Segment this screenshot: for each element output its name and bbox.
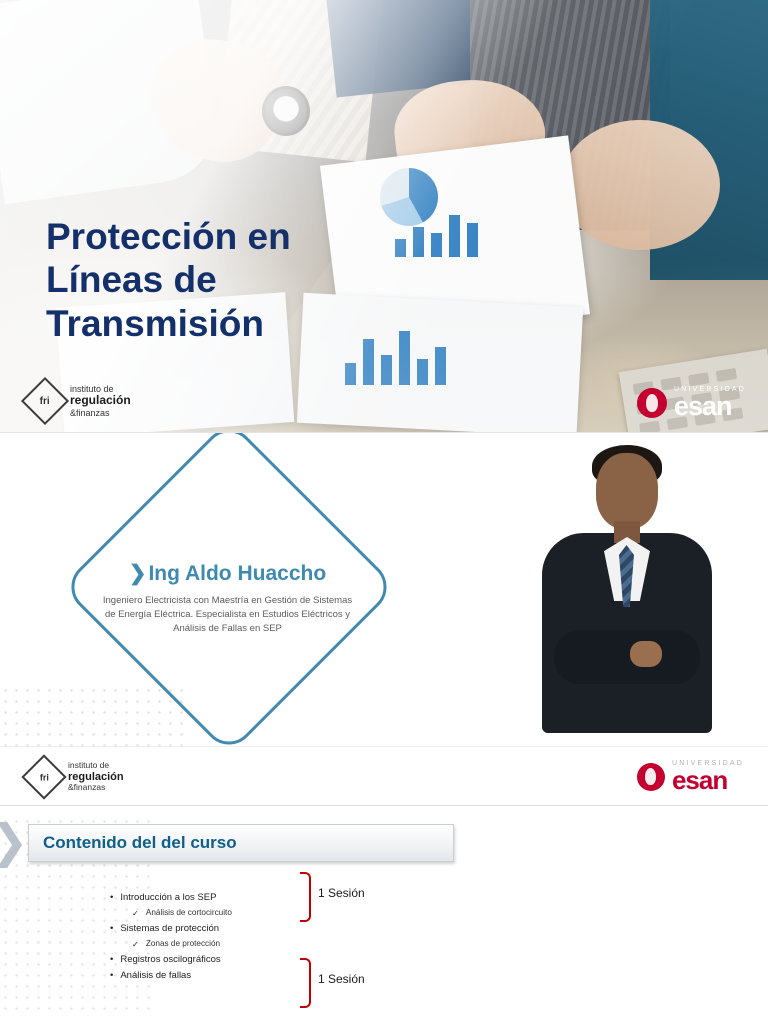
list-item-label: Registros oscilográficos (120, 954, 220, 965)
portrait-hand (630, 641, 662, 667)
esan-logo-name-2: esan (672, 767, 744, 793)
session-brace-2 (300, 958, 311, 1008)
session-brace-1 (300, 872, 311, 922)
section-title-banner: Contenido del del curso (28, 824, 454, 862)
list-item-label: Introducción a los SEP (120, 892, 216, 903)
bullet-icon: • (110, 954, 113, 965)
check-icon: ✓ (132, 908, 139, 918)
irf-logo-mark-2: fri (40, 772, 49, 782)
esan-seal-icon-2 (637, 763, 665, 791)
session-label: 1 Sesión (318, 886, 365, 900)
irf-logo-line3-2: &finanzas (68, 783, 124, 793)
chevron-right-icon: ❯ (129, 562, 147, 585)
esan-logo-text-2: UNIVERSIDAD esan (672, 760, 744, 793)
irf-logo-line1-2: instituto de (68, 761, 124, 771)
esan-logo: UNIVERSIDAD esan (637, 386, 746, 420)
portrait-head (596, 453, 658, 529)
session-groupings: 1 Sesión 1 Sesión (300, 872, 500, 1022)
list-item-label: Análisis de fallas (120, 970, 191, 981)
speaker-name-text: Ing Aldo Huaccho (148, 562, 326, 585)
irf-logo-line2: regulación (70, 393, 131, 407)
bullet-icon: • (110, 892, 113, 903)
chevron-right-icon-large: ❯ (0, 818, 26, 874)
slide-speaker-footer: fri instituto de regulación &finanzas UN… (0, 746, 768, 805)
section-title-text: Contenido del del curso (43, 833, 237, 853)
list-item-label: Sistemas de protección (120, 923, 219, 934)
irf-diamond-icon-2: fri (21, 754, 66, 799)
speaker-info: ❯Ing Aldo Huaccho Ingeniero Electricista… (100, 561, 355, 635)
bullet-icon: • (110, 970, 113, 981)
esan-logo-text: UNIVERSIDAD esan (674, 386, 746, 420)
speaker-description: Ingeniero Electricista con Maestría en G… (100, 594, 355, 635)
irf-logo-text-2: instituto de regulación &finanzas (68, 761, 124, 792)
irf-logo-line2-2: regulación (68, 771, 124, 783)
portrait-crossed-arms (554, 630, 700, 684)
irf-logo-text: instituto de regulación &finanzas (70, 384, 131, 418)
esan-seal-icon (637, 388, 667, 418)
slide-course-contents: ❯ Contenido del del curso •Introducción … (0, 805, 768, 1026)
slide-title-footer: fri instituto de regulación &finanzas UN… (0, 374, 768, 432)
avatar (518, 445, 733, 735)
page-title: Protección en Líneas de Transmisión (46, 215, 386, 346)
bullet-icon: • (110, 923, 113, 934)
irf-logo: fri instituto de regulación &finanzas (28, 384, 131, 418)
session-label: 1 Sesión (318, 972, 365, 986)
list-item-label: Zonas de protección (146, 939, 220, 949)
list-item-label: Análisis de cortocircuito (146, 908, 232, 918)
irf-logo-mark: fri (40, 396, 50, 407)
slide-title: Protección en Líneas de Transmisión fri … (0, 0, 768, 432)
speaker-name: ❯Ing Aldo Huaccho (100, 561, 355, 586)
irf-diamond-icon: fri (21, 377, 69, 425)
irf-logo-2: fri instituto de regulación &finanzas (28, 761, 124, 793)
slide-speaker: ❯Ing Aldo Huaccho Ingeniero Electricista… (0, 432, 768, 805)
slide-deck-page: Protección en Líneas de Transmisión fri … (0, 0, 768, 1024)
irf-logo-line3: &finanzas (70, 408, 131, 418)
check-icon: ✓ (132, 939, 139, 949)
esan-logo-name: esan (674, 393, 746, 420)
esan-logo-2: UNIVERSIDAD esan (637, 760, 744, 793)
